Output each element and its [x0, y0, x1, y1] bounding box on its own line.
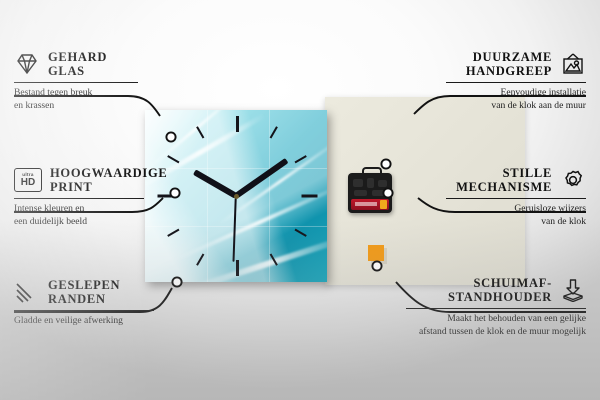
- feature-gehard-glas[interactable]: GEHARD GLAS Bestand tegen breuk en krass…: [14, 50, 138, 112]
- feature-desc-line1: Intense kleuren en: [14, 203, 144, 215]
- tick-1: [270, 126, 278, 138]
- feature-title-line1: GEHARD: [48, 50, 107, 64]
- bevelled-edges-icon: [14, 280, 40, 304]
- feature-title-line1: STILLE: [456, 166, 552, 180]
- feature-desc-line2: van de klok aan de muur: [446, 100, 586, 112]
- tick-7: [196, 254, 204, 266]
- feature-title-line2: HANDGREEP: [466, 64, 552, 78]
- feature-desc-line1: Maakt het behouden van een gelijke: [406, 313, 586, 325]
- divider: [406, 308, 586, 310]
- hands-hub: [234, 194, 239, 199]
- feature-desc-line1: Geruisloze wijzers: [446, 203, 586, 215]
- tick-8: [167, 229, 179, 237]
- divider: [14, 198, 144, 200]
- feature-desc-line2: van de klok: [446, 216, 586, 228]
- clock-mechanism: [348, 173, 392, 213]
- hour-hand: [193, 169, 238, 198]
- tick-6: [236, 260, 239, 276]
- foam-spacer: [368, 245, 384, 261]
- product-infographic: GEHARD GLAS Bestand tegen breuk en krass…: [0, 0, 600, 400]
- clock-face: [145, 110, 327, 282]
- divider: [14, 310, 154, 312]
- feature-geslepen-randen[interactable]: GESLEPEN RANDEN Gladde en veilige afwerk…: [14, 278, 154, 328]
- feature-duurzame-handgreep[interactable]: DUURZAME HANDGREEP Eenvoudige installati…: [446, 50, 586, 112]
- feature-desc-line2: afstand tussen de klok en de muur mogeli…: [406, 326, 586, 338]
- feature-title-line2: MECHANISME: [456, 180, 552, 194]
- feature-title-line1: GESLEPEN: [48, 278, 120, 292]
- feature-title-line2: STANDHOUDER: [448, 290, 552, 304]
- ultra-hd-icon: ultraHD: [14, 168, 42, 192]
- feature-hoogwaardige-print[interactable]: ultraHD HOOGWAARDIGE PRINT Intense kleur…: [14, 166, 144, 228]
- picture-frame-icon: [560, 52, 586, 76]
- gear-icon: [560, 168, 586, 192]
- feature-desc-line1: Gladde en veilige afwerking: [14, 315, 154, 327]
- tick-11: [196, 126, 204, 138]
- tick-4: [295, 229, 307, 237]
- feature-title-line1: SCHUIMAF-: [448, 276, 552, 290]
- divider: [14, 82, 138, 84]
- divider: [446, 82, 586, 84]
- feature-title-line2: GLAS: [48, 64, 107, 78]
- feature-desc-line2: een duidelijk beeld: [14, 216, 144, 228]
- feature-stille-mechanisme[interactable]: STILLE MECHANISME Geruisloze wijzers van…: [446, 166, 586, 228]
- press-down-pad-icon: [560, 278, 586, 302]
- feature-title-line2: PRINT: [50, 180, 167, 194]
- feature-desc-line1: Eenvoudige installatie: [446, 87, 586, 99]
- battery: [351, 199, 389, 210]
- feature-desc-line2: en krassen: [14, 100, 138, 112]
- tick-12: [236, 116, 239, 132]
- feature-title-line1: DUURZAME: [466, 50, 552, 64]
- diamond-icon: [14, 52, 40, 76]
- tick-10: [167, 155, 179, 163]
- feature-desc-line1: Bestand tegen breuk: [14, 87, 138, 99]
- tick-9: [158, 195, 174, 198]
- feature-title-line1: HOOGWAARDIGE: [50, 166, 167, 180]
- feature-schuimafstandhouder[interactable]: SCHUIMAF- STANDHOUDER Maakt het behouden…: [406, 276, 586, 338]
- tick-3: [302, 195, 318, 198]
- divider: [446, 198, 586, 200]
- feature-title-line2: RANDEN: [48, 292, 120, 306]
